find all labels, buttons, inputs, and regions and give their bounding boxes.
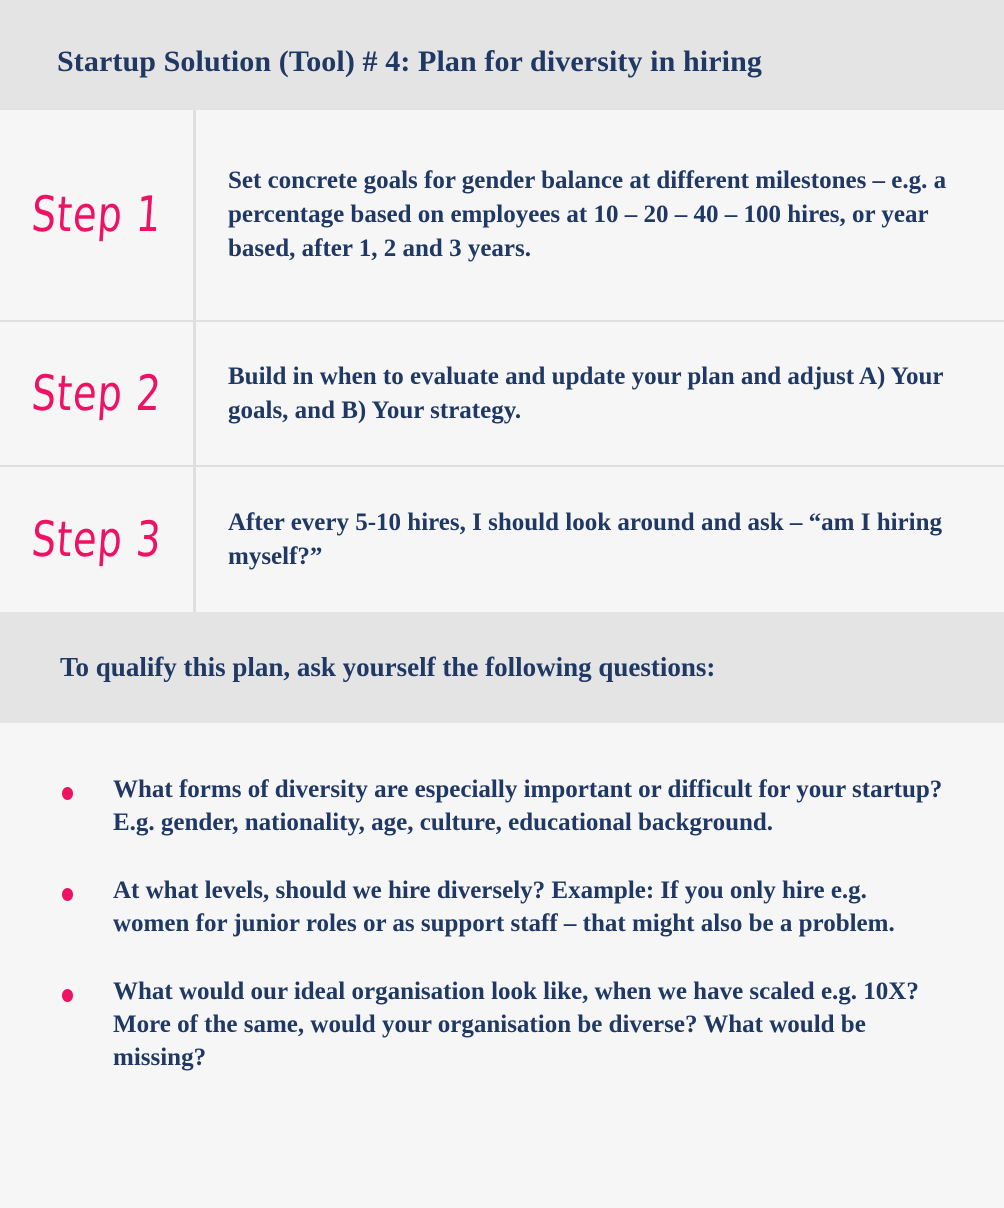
row-divider <box>0 320 1004 322</box>
table-row: Step 3 After every 5-10 hires, I should … <box>0 467 1004 612</box>
steps-table: Step 1 Set concrete goals for gender bal… <box>0 110 1004 612</box>
step-description: Build in when to evaluate and update you… <box>196 360 1004 428</box>
question-text: What forms of diversity are especially i… <box>113 773 944 839</box>
bullet-dot-icon <box>62 989 73 1002</box>
bullet-dot-icon <box>62 787 73 800</box>
qualify-heading: To qualify this plan, ask yourself the f… <box>0 652 715 683</box>
step-label: Step 2 <box>30 365 164 421</box>
step-body-cell: Build in when to evaluate and update you… <box>196 322 1004 465</box>
step-label: Step 3 <box>30 511 164 567</box>
step-label-cell: Step 1 <box>0 110 193 320</box>
questions-list: What forms of diversity are especially i… <box>0 723 1004 1208</box>
qualify-band: To qualify this plan, ask yourself the f… <box>0 612 1004 723</box>
list-item: At what levels, should we hire diversely… <box>0 874 1004 940</box>
page-title: Startup Solution (Tool) # 4: Plan for di… <box>57 45 762 79</box>
step-description: Set concrete goals for gender balance at… <box>196 164 1004 266</box>
question-text: What would our ideal organisation look l… <box>113 975 944 1074</box>
list-item: What forms of diversity are especially i… <box>0 773 1004 839</box>
table-row: Step 2 Build in when to evaluate and upd… <box>0 322 1004 465</box>
step-description: After every 5-10 hires, I should look ar… <box>196 506 1004 574</box>
column-divider <box>193 110 196 612</box>
bullet-dot-icon <box>62 888 73 901</box>
step-label-cell: Step 2 <box>0 322 193 465</box>
row-divider <box>0 465 1004 467</box>
question-text: At what levels, should we hire diversely… <box>113 874 944 940</box>
step-label-cell: Step 3 <box>0 467 193 612</box>
step-body-cell: Set concrete goals for gender balance at… <box>196 110 1004 320</box>
step-label: Step 1 <box>30 187 164 243</box>
list-item: What would our ideal organisation look l… <box>0 975 1004 1074</box>
slide-page: Startup Solution (Tool) # 4: Plan for di… <box>0 0 1004 1208</box>
title-band: Startup Solution (Tool) # 4: Plan for di… <box>0 0 1004 110</box>
step-body-cell: After every 5-10 hires, I should look ar… <box>196 467 1004 612</box>
table-row: Step 1 Set concrete goals for gender bal… <box>0 110 1004 320</box>
